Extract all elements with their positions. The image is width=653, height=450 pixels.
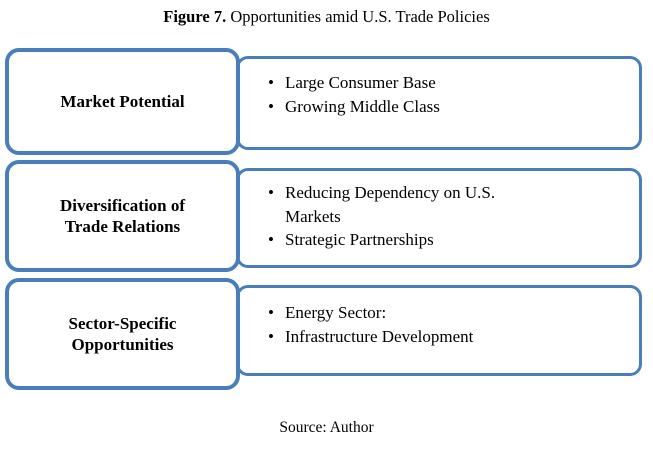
row-label-line-2: Trade Relations [65, 217, 180, 236]
bullet-dot-icon: • [268, 181, 274, 205]
row-label-box-sector-specific-opportunities[interactable]: Sector-SpecificOpportunities [5, 278, 240, 390]
source-note: Source: Author [0, 418, 653, 437]
list-item-label: Infrastructure Development [285, 327, 473, 346]
bullet-list: • Large Consumer Base • Growing Middle C… [266, 71, 596, 118]
figure-caption-text: Opportunities amid U.S. Trade Policies [226, 7, 490, 26]
list-item: • Reducing Dependency on U.S. Markets [266, 181, 532, 228]
list-item: • Strategic Partnerships [266, 228, 532, 252]
bullet-dot-icon: • [268, 228, 274, 252]
bullet-list: • Reducing Dependency on U.S. Markets • … [266, 181, 532, 252]
list-item: • Growing Middle Class [266, 95, 596, 119]
row-content-box-sector-specific-opportunities[interactable]: • Energy Sector: • Infrastructure Develo… [236, 285, 642, 376]
bullet-dot-icon: • [268, 71, 274, 95]
list-item-label: Reducing Dependency on U.S. Markets [285, 183, 495, 226]
bullet-dot-icon: • [268, 95, 274, 119]
bullet-list: • Energy Sector: • Infrastructure Develo… [266, 301, 596, 348]
list-item: • Infrastructure Development [266, 325, 596, 349]
row-label-text: Sector-SpecificOpportunities [63, 313, 183, 355]
row-label-line-2: Opportunities [71, 335, 173, 354]
row-label-text: Market Potential [54, 91, 190, 112]
diagram-row: Diversification ofTrade Relations • Redu… [0, 158, 653, 276]
row-label-box-market-potential[interactable]: Market Potential [5, 48, 240, 155]
row-content-box-diversification-of-trade-relations[interactable]: • Reducing Dependency on U.S. Markets • … [236, 168, 642, 268]
row-content-box-market-potential[interactable]: • Large Consumer Base • Growing Middle C… [236, 56, 642, 150]
row-label-line-1: Diversification of [60, 196, 185, 215]
figure-caption: Figure 7. Opportunities amid U.S. Trade … [0, 7, 653, 27]
diagram-row: Sector-SpecificOpportunities • Energy Se… [0, 276, 653, 394]
diagram-row: Market Potential • Large Consumer Base •… [0, 45, 653, 158]
row-label-box-diversification-of-trade-relations[interactable]: Diversification ofTrade Relations [5, 160, 240, 272]
figure-caption-label: Figure 7. [163, 7, 226, 26]
figure-container: Figure 7. Opportunities amid U.S. Trade … [0, 0, 653, 450]
list-item: • Energy Sector: [266, 301, 596, 325]
list-item-label: Large Consumer Base [285, 73, 436, 92]
row-label-text: Diversification ofTrade Relations [54, 195, 191, 237]
row-label-line-1: Sector-Specific [69, 314, 177, 333]
diagram-rows: Market Potential • Large Consumer Base •… [0, 45, 653, 394]
list-item-label: Strategic Partnerships [285, 230, 434, 249]
bullet-dot-icon: • [268, 301, 274, 325]
list-item-label: Energy Sector: [285, 303, 386, 322]
bullet-dot-icon: • [268, 325, 274, 349]
list-item-label: Growing Middle Class [285, 97, 440, 116]
list-item: • Large Consumer Base [266, 71, 596, 95]
